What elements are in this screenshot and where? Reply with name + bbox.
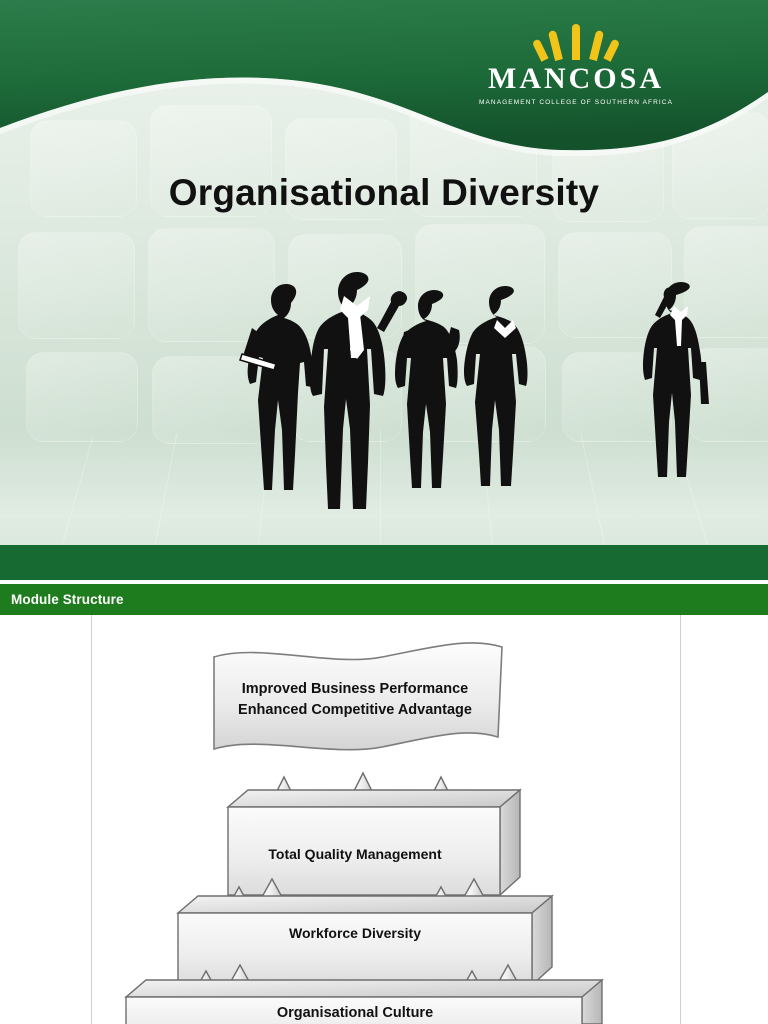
tier-label-tqm: Total Quality Management	[205, 846, 505, 862]
business-people-illustration	[0, 270, 768, 560]
module-structure-bar: Module Structure	[0, 584, 768, 615]
module-structure-slide: Improved Business Performance Enhanced C…	[0, 615, 768, 1024]
outcome-line-2: Enhanced Competitive Advantage	[205, 700, 505, 721]
module-structure-label: Module Structure	[0, 592, 124, 607]
tier-label-organisational-culture: Organisational Culture	[175, 1005, 535, 1021]
title-slide: MANCOSA MANAGEMENT COLLEGE OF SOUTHERN A…	[0, 0, 768, 620]
bottom-green-band	[0, 545, 768, 580]
page-title: Organisational Diversity	[0, 172, 768, 214]
pyramid-diagram: Improved Business Performance Enhanced C…	[0, 615, 768, 1024]
mancosa-logo: MANCOSA MANAGEMENT COLLEGE OF SOUTHERN A…	[476, 14, 676, 106]
silhouette-group	[240, 272, 709, 509]
tier-label-workforce-diversity: Workforce Diversity	[175, 925, 535, 941]
presentation-page: MANCOSA MANAGEMENT COLLEGE OF SOUTHERN A…	[0, 0, 768, 1024]
mancosa-crown-icon	[541, 14, 611, 60]
outcome-banner-text: Improved Business Performance Enhanced C…	[205, 679, 505, 721]
outcome-line-1: Improved Business Performance	[205, 679, 505, 700]
logo-tagline: MANAGEMENT COLLEGE OF SOUTHERN AFRICA	[476, 99, 676, 106]
logo-wordmark: MANCOSA	[476, 64, 676, 94]
